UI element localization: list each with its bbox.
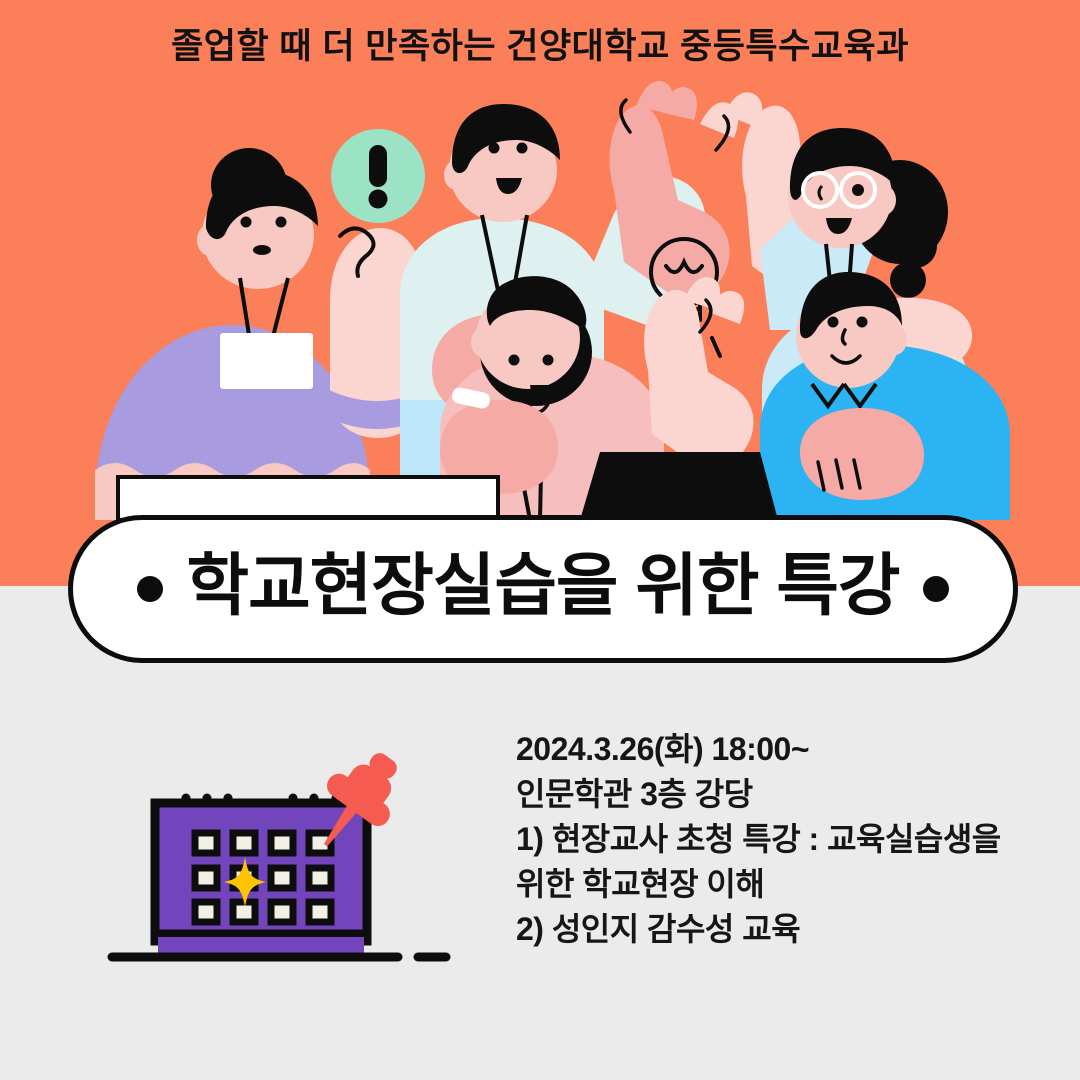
- teamwork-illustration: [0, 0, 1080, 600]
- exclamation-circle-icon: [331, 129, 425, 223]
- title-bullet-right-icon: [923, 576, 949, 602]
- event-details-block: 2024.3.26(화) 18:00~ 인문학관 3층 강당 1) 현장교사 초…: [516, 727, 1056, 952]
- event-program-1a: 1) 현장교사 초청 특강 : 교육실습생을: [516, 817, 1056, 862]
- title-bullet-left-icon: [137, 576, 163, 602]
- main-title-banner: 학교현장실습을 위한 특강: [68, 515, 1018, 663]
- event-program-2: 2) 성인지 감수성 교육: [516, 907, 1056, 952]
- laptop-icon: [580, 452, 778, 520]
- page-title: 학교현장실습을 위한 특강: [187, 552, 900, 626]
- poster-canvas: 졸업할 때 더 만족하는 건양대학교 중등특수교육과: [0, 0, 1080, 1080]
- calendar-illustration: [100, 735, 480, 985]
- event-location: 인문학관 3층 강당: [516, 772, 1056, 817]
- event-datetime: 2024.3.26(화) 18:00~: [516, 727, 1056, 772]
- event-program-1b: 위한 학교현장 이해: [516, 862, 1056, 907]
- poster-header-text: 졸업할 때 더 만족하는 건양대학교 중등특수교육과: [0, 18, 1080, 69]
